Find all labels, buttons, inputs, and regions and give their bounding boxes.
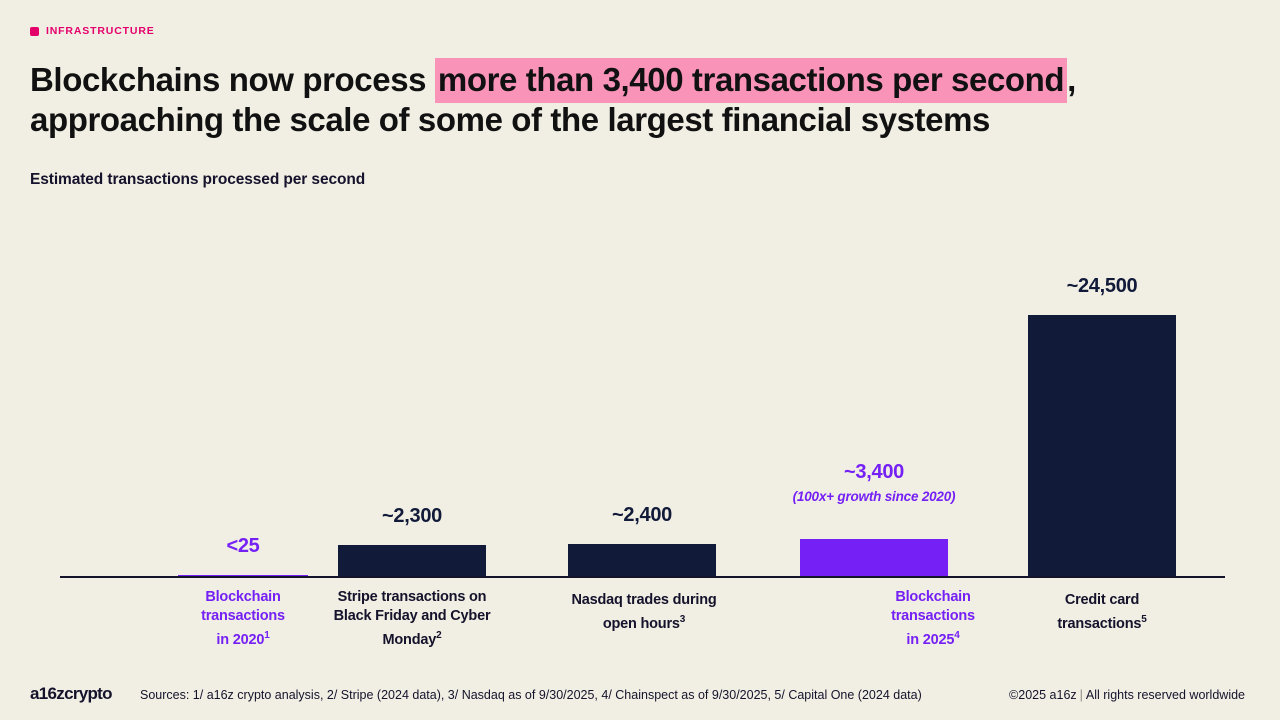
bar-annotation-label: (100x+ growth since 2020) xyxy=(730,489,1018,504)
bar-value-label: <25 xyxy=(118,535,368,558)
eyebrow-tag: INFRASTRUCTURE xyxy=(30,25,155,37)
category-line-2: transactions xyxy=(891,608,975,624)
bar-value-label: ~2,400 xyxy=(508,504,776,527)
headline-highlight: more than 3,400 transactions per second xyxy=(435,58,1067,103)
headline-before: Blockchains now process xyxy=(30,61,435,98)
category-line-1: Credit card xyxy=(1065,592,1139,608)
copyright-separator: | xyxy=(1080,688,1083,702)
sources-note: Sources: 1/ a16z crypto analysis, 2/ Str… xyxy=(140,688,922,702)
bar-value-label: ~24,500 xyxy=(968,275,1236,298)
category-line-1: Stripe transactions on xyxy=(338,589,487,605)
category-line-1: Blockchain xyxy=(895,589,970,605)
chart-baseline-axis xyxy=(60,576,1225,579)
headline-after: , xyxy=(1067,61,1076,98)
bar-value-label: ~2,300 xyxy=(278,505,546,528)
bar-value-label: ~3,400 xyxy=(740,461,1008,484)
copyright-right: All rights reserved worldwide xyxy=(1086,688,1245,702)
category-footnote-marker: 2 xyxy=(436,630,441,641)
copyright-note: ©2025 a16z|All rights reserved worldwide xyxy=(1009,688,1245,702)
category-line-2: transactions xyxy=(1057,616,1141,632)
chart-subtitle: Estimated transactions processed per sec… xyxy=(30,171,365,189)
category-line-2: Black Friday and Cyber xyxy=(334,608,491,624)
headline-line2: approaching the scale of some of the lar… xyxy=(30,101,990,138)
category-line-3: in 2020 xyxy=(216,632,264,648)
page-footer: a16zcrypto Sources: 1/ a16z crypto analy… xyxy=(0,674,1280,720)
category-footnote-marker: 4 xyxy=(954,630,959,641)
category-label-blockchain-2020: Blockchain transactions in 20201 xyxy=(158,588,328,650)
category-label-credit-card: Credit card transactions5 xyxy=(1012,591,1192,634)
page-title: Blockchains now process more than 3,400 … xyxy=(30,60,1245,140)
category-footnote-marker: 5 xyxy=(1141,614,1146,625)
category-line-3: Monday xyxy=(383,632,437,648)
copyright-left: ©2025 a16z xyxy=(1009,688,1077,702)
bar-rect xyxy=(1028,315,1176,576)
bar-chart: <25 ~2,300 ~2,400 ~3,400 (100x+ growth s… xyxy=(60,250,1225,580)
category-label-blockchain-2025: Blockchain transactions in 20254 xyxy=(848,588,1018,650)
chart-plot-area: <25 ~2,300 ~2,400 ~3,400 (100x+ growth s… xyxy=(60,250,1225,578)
category-line-1: Nasdaq trades during xyxy=(571,592,716,608)
category-line-3: in 2025 xyxy=(906,632,954,648)
category-line-2: open hours xyxy=(603,616,680,632)
category-footnote-marker: 1 xyxy=(264,630,269,641)
bar-column-credit-card: ~24,500 xyxy=(1028,250,1176,576)
bar-column-stripe: ~2,300 xyxy=(338,250,486,576)
category-footnote-marker: 3 xyxy=(680,614,685,625)
eyebrow-label: INFRASTRUCTURE xyxy=(46,25,155,37)
bar-rect xyxy=(800,539,948,576)
category-label-nasdaq: Nasdaq trades during open hours3 xyxy=(544,591,744,634)
category-label-stripe: Stripe transactions on Black Friday and … xyxy=(312,588,512,650)
category-line-2: transactions xyxy=(201,608,285,624)
bar-column-nasdaq: ~2,400 xyxy=(568,250,716,576)
bar-rect xyxy=(338,545,486,576)
brand-logo: a16zcrypto xyxy=(30,684,112,704)
bar-column-blockchain-2025: ~3,400 (100x+ growth since 2020) xyxy=(800,250,948,576)
bar-rect xyxy=(568,544,716,576)
chart-category-labels: Blockchain transactions in 20201 Stripe … xyxy=(60,588,1225,668)
eyebrow-dot-icon xyxy=(30,27,39,36)
category-line-1: Blockchain xyxy=(205,589,280,605)
